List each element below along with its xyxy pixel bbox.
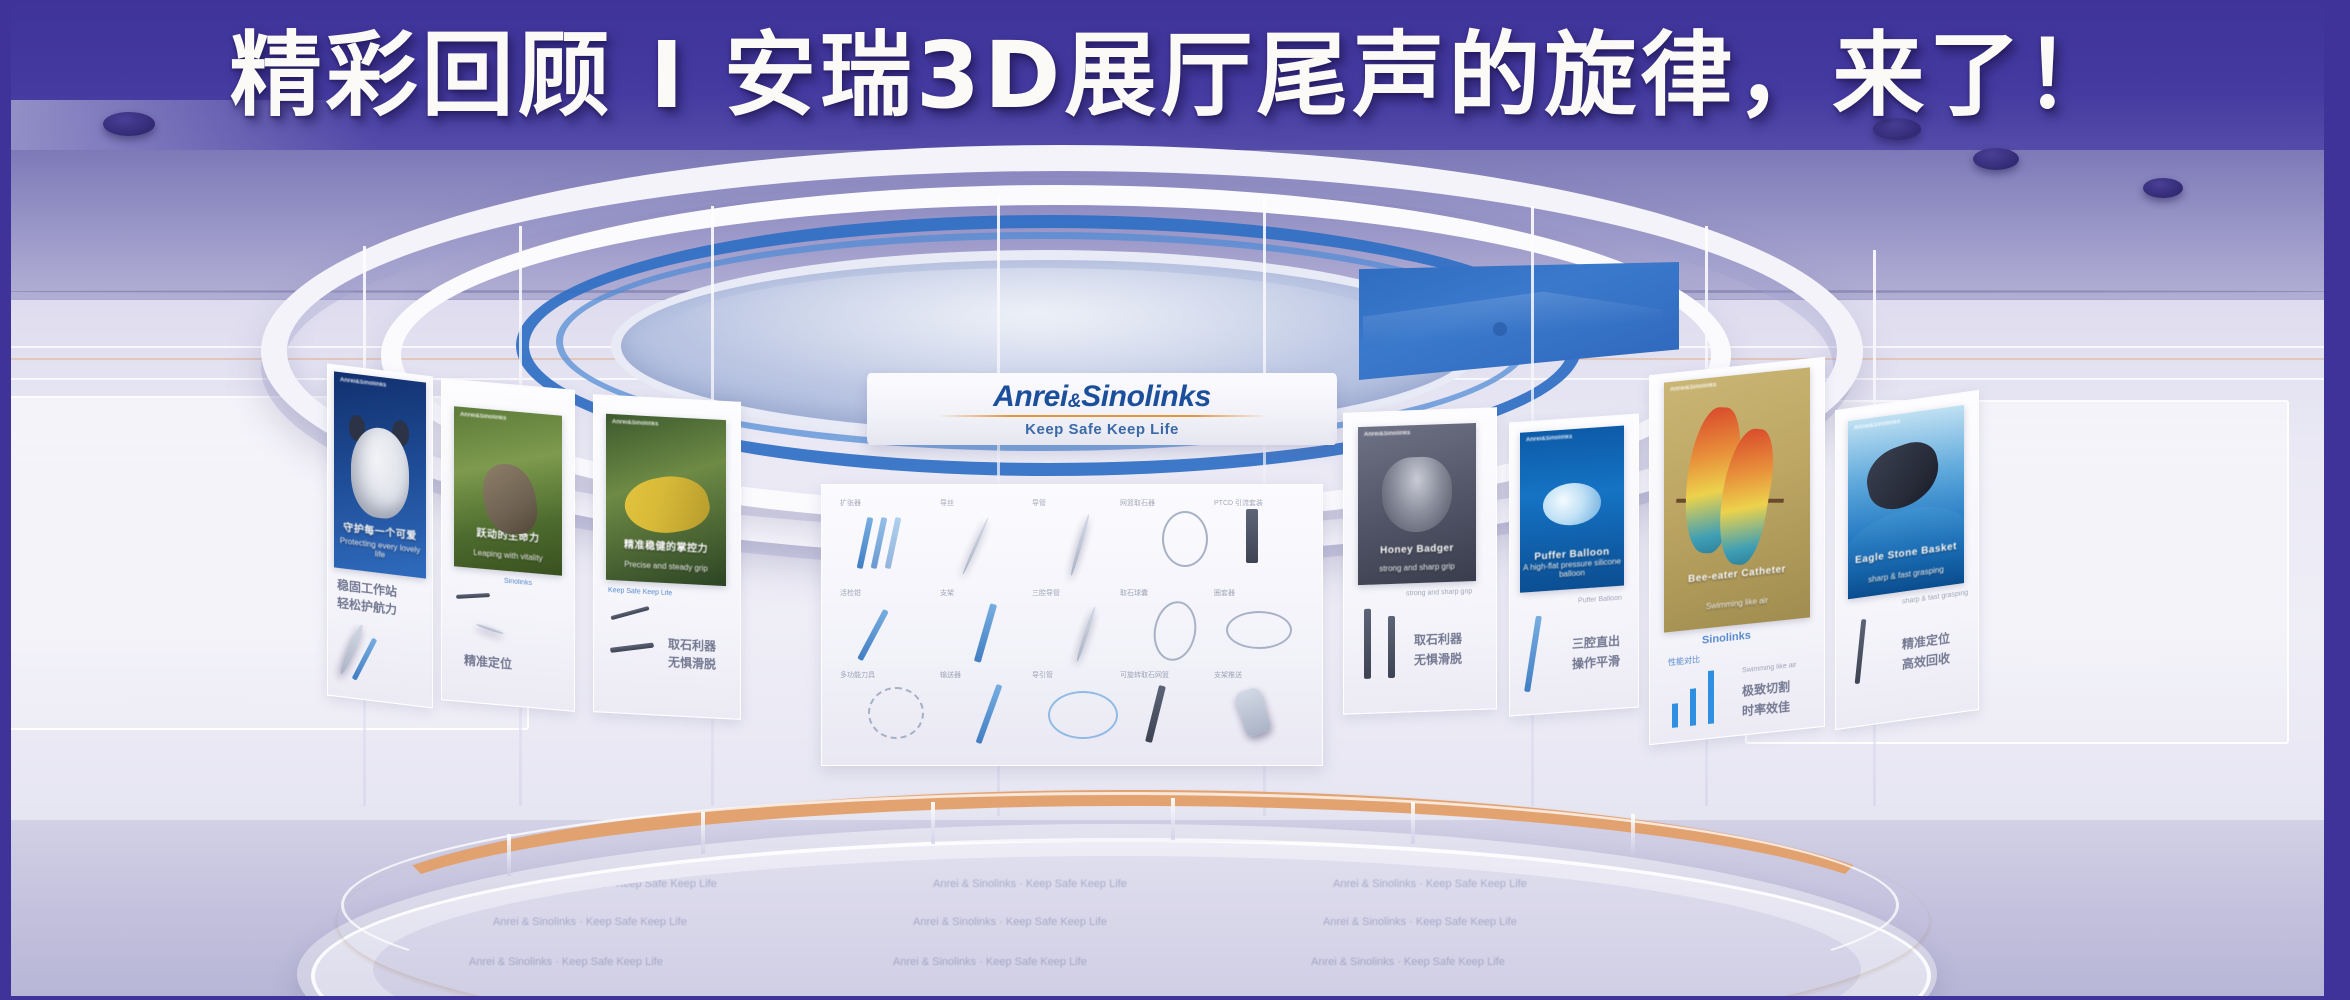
rail-post-5 [1411,802,1415,844]
grid-label-r2c3: 可旋转取石网篮 [1120,671,1169,680]
panel-puffer-note: Puffer Balloon [1578,594,1622,606]
poster-frog-title: 精准稳健的掌控力 [606,535,726,556]
device-r0-3 [885,517,902,569]
panel-frog-brandline: Keep Safe Keep Life [608,586,672,598]
device-r1-1 [857,609,889,661]
device-kangaroo-2 [476,623,504,635]
poster-kangaroo[interactable]: Anrei&Sinolinks 跃动的生命力 Leaping with vita… [454,406,562,575]
ceiling-light-4 [2143,178,2183,198]
ceiling-light-3 [1973,148,2019,170]
panel-frog-caption-2: 无惧滑脱 [668,655,716,673]
panel-puffer[interactable]: Anrei&Sinolinks Puffer Balloon A high-fl… [1509,413,1639,716]
device-badger-1 [1364,609,1371,679]
frame-border-left [0,0,11,1000]
panel-bee-eater-caption-1: 极致切割 [1742,679,1790,699]
bar-chart-bar-1 [1690,688,1696,726]
device-r1-3 [1075,606,1097,662]
exhibition-hall-scene: Anrei&Sinolinks Keep Safe Keep Life Anre… [11,0,2324,1000]
badger-snout [1402,500,1433,526]
device-r0-4 [962,517,990,575]
device-frog-2 [610,642,654,652]
grid-label-r0c2: 导管 [1032,499,1046,508]
poster-frog-logo: Anrei&Sinolinks [612,419,658,427]
device-kangaroo-1 [456,593,490,599]
poster-kangaroo-logo: Anrei&Sinolinks [460,412,506,422]
panel-eagle[interactable]: Anrei&Sinolinks Eagle Stone Basket sharp… [1835,390,1979,730]
panel-badger-caption-2: 无惧滑脱 [1414,652,1462,669]
panel-bee-eater-brand: Sinolinks [1702,632,1751,646]
panel-puffer-caption-1: 三腔直出 [1572,634,1620,652]
grid-label-r1c4: 圈套器 [1214,589,1235,598]
device-grid-board[interactable]: 扩张器 导丝 导管 网篮取石器 PTCD 引流套装 活检钳 支架 三腔导管 取石… [821,484,1323,766]
panda-eye-left [359,453,372,476]
grid-label-r2c1: 输送器 [940,671,961,680]
poster-bee-eater-title: Bee-eater Catheter [1664,561,1810,587]
grid-label-r0c0: 扩张器 [840,499,861,508]
bar-chart-title: 性能对比 [1668,655,1700,667]
panda-eye-right [385,456,398,479]
panel-badger-caption-1: 取石利器 [1414,632,1462,649]
poster-kangaroo-subtitle: Leaping with vitality [454,546,562,564]
poster-frog-subtitle: Precise and steady grip [606,559,726,574]
panel-puffer-caption-2: 操作平滑 [1572,654,1620,672]
poster-puffer[interactable]: Anrei&Sinolinks Puffer Balloon A high-fl… [1520,426,1624,593]
panel-frog[interactable]: Anrei&Sinolinks 精准稳健的掌控力 Precise and ste… [593,394,741,720]
grid-label-r2c4: 支架推送 [1214,671,1242,680]
rail-post-4 [1171,798,1175,840]
exhibition-banner-image: Anrei&Sinolinks Keep Safe Keep Life Anre… [0,0,2350,1000]
device-r0-2 [871,517,888,569]
panda-ear-left [349,414,366,442]
device-eagle-1 [1855,619,1867,684]
grid-label-r2c0: 多功能刀具 [840,671,875,680]
device-r0-6 [1246,509,1258,563]
panel-eagle-caption-1: 精准定位 [1902,631,1950,653]
panel-kangaroo-brandline: Sinolinks [504,577,532,588]
poster-badger[interactable]: Anrei&Sinolinks Honey Badger strong and … [1358,423,1476,585]
poster-panda[interactable]: Anrei&Sinolinks 守护每一个可爱 Protecting every… [334,371,426,578]
grid-label-r1c0: 活检钳 [840,589,861,598]
rail-post-6 [1631,814,1635,856]
panel-frog-caption-1: 取石利器 [668,637,716,655]
grid-label-r0c4: PTCD 引流套装 [1214,499,1263,508]
poster-badger-subtitle: strong and sharp grip [1358,561,1476,574]
poster-bee-eater[interactable]: Anrei&Sinolinks Bee-eater Catheter Swimm… [1664,367,1810,632]
panel-bee-eater[interactable]: Anrei&Sinolinks Bee-eater Catheter Swimm… [1649,357,1825,745]
device-r0-1 [857,517,874,569]
panel-bee-eater-caption-2: 时率效佳 [1742,699,1790,719]
panel-badger[interactable]: Anrei&Sinolinks Honey Badger strong and … [1343,407,1497,714]
device-r0-5 [1069,514,1090,577]
exhibition-wall: Anrei&Sinolinks 守护每一个可爱 Protecting every… [341,392,1981,812]
poster-kangaroo-title: 跃动的生命力 [454,522,562,546]
poster-bee-eater-logo: Anrei&Sinolinks [1670,382,1716,393]
device-r2-2 [976,684,1003,744]
panel-panda[interactable]: Anrei&Sinolinks 守护每一个可爱 Protecting every… [327,363,433,708]
device-puffer-1 [1524,616,1542,692]
poster-eagle-logo: Anrei&Sinolinks [1854,419,1900,432]
device-badger-2 [1388,616,1395,678]
panel-kangaroo[interactable]: Anrei&Sinolinks 跃动的生命力 Leaping with vita… [441,378,575,712]
device-r1-loop [1149,598,1201,664]
device-r2-3 [1048,691,1118,739]
device-frog-1 [610,606,649,620]
poster-frog[interactable]: Anrei&Sinolinks 精准稳健的掌控力 Precise and ste… [606,414,726,586]
poster-badger-title: Honey Badger [1358,542,1476,557]
grid-label-r1c2: 三腔导管 [1032,589,1060,598]
bar-chart: 性能对比 [1668,663,1734,728]
poster-panda-logo: Anrei&Sinolinks [340,377,386,389]
grid-label-r1c1: 支架 [940,589,954,598]
panel-bee-eater-note: Swimming like air [1742,661,1796,676]
blue-sail-dot [1493,322,1507,336]
poster-badger-logo: Anrei&Sinolinks [1364,430,1410,438]
panel-eagle-caption-2: 高效回收 [1902,651,1950,673]
grid-label-r0c3: 网篮取石器 [1120,499,1155,508]
bar-chart-bar-2 [1708,670,1714,724]
bar-chart-bar-0 [1672,703,1678,728]
device-r1-2 [974,603,997,663]
frame-border-right [2324,0,2350,1000]
panel-kangaroo-caption-1: 精准定位 [464,653,512,672]
panel-eagle-note: sharp & fast grasping [1902,588,1968,606]
rail-post-1 [507,834,511,876]
poster-puffer-logo: Anrei&Sinolinks [1526,434,1572,443]
grid-label-r2c2: 导引管 [1032,671,1053,680]
device-r0-loop [1162,511,1208,567]
poster-bee-eater-subtitle: Swimming like air [1664,591,1810,615]
device-r1-loop2 [1226,611,1292,649]
page-title: 精彩回顾 I 安瑞3D展厅尾声的旋律，来了！ [0,28,2350,125]
rail-post-3 [931,802,935,844]
grid-label-r1c3: 取石球囊 [1120,589,1148,598]
rail-post-2 [701,812,705,854]
grid-label-r0c1: 导丝 [940,499,954,508]
panel-badger-note: strong and sharp grip [1406,587,1472,598]
frame-border-bottom [0,996,2350,1000]
device-r2-1 [868,687,924,739]
panda-ear-right [392,420,409,448]
device-r2-5 [1234,686,1273,738]
device-r2-4 [1145,685,1166,743]
poster-eagle[interactable]: Anrei&Sinolinks Eagle Stone Basket sharp… [1848,405,1964,599]
